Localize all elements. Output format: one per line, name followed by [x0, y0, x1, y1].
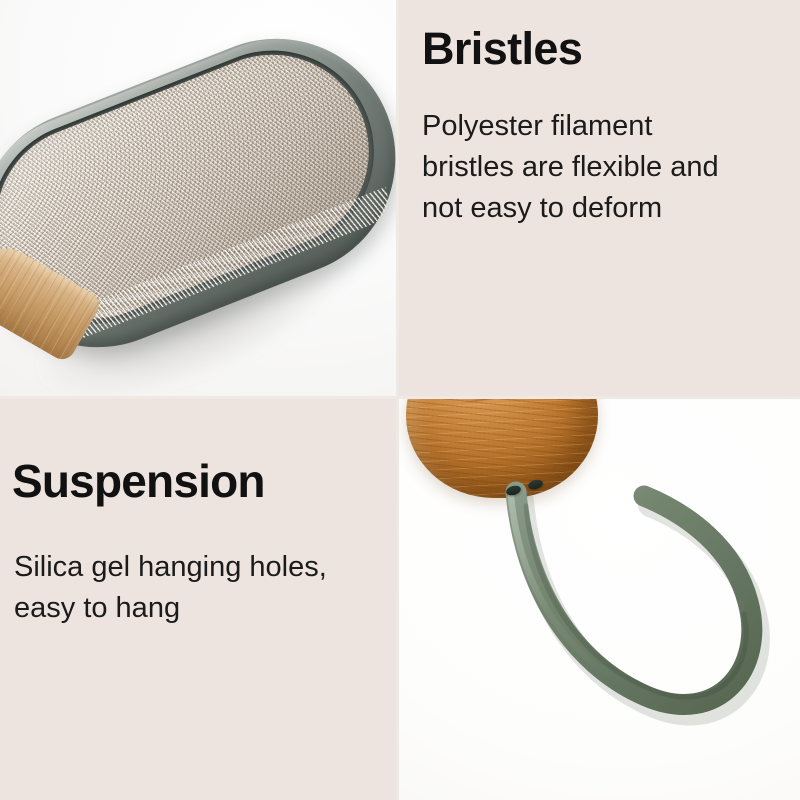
quadrant-top-right-text: Bristles Polyester filament bristles are…: [398, 0, 800, 398]
suspension-description-line-2: easy to hang: [14, 588, 384, 629]
vertical-seam-divider: [396, 0, 399, 800]
suspension-heading: Suspension: [12, 458, 384, 505]
horizontal-seam-divider: [0, 396, 800, 399]
bristles-description-line-3: not easy to deform: [422, 188, 722, 229]
silicone-hanging-loop: [398, 398, 800, 800]
bristles-description: Polyester filament bristles are flexible…: [422, 106, 722, 230]
hanging-loop-photo: [398, 398, 800, 800]
suspension-description-line-1: Silica gel hanging holes,: [14, 547, 384, 588]
bristles-description-line-1: Polyester filament: [422, 106, 722, 147]
bristles-description-line-2: bristles are flexible and: [422, 147, 722, 188]
quadrant-bottom-left-text: Suspension Silica gel hanging holes, eas…: [0, 398, 398, 800]
bristles-heading: Bristles: [422, 26, 782, 72]
brush-head-photo: [0, 0, 398, 398]
quadrant-top-left-photo: [0, 0, 398, 398]
quadrant-bottom-right-photo: [398, 398, 800, 800]
product-feature-infographic: Bristles Polyester filament bristles are…: [0, 0, 800, 800]
suspension-text-panel: Suspension Silica gel hanging holes, eas…: [12, 458, 384, 629]
suspension-description: Silica gel hanging holes, easy to hang: [14, 547, 384, 629]
bristles-text-panel: Bristles Polyester filament bristles are…: [422, 26, 782, 229]
